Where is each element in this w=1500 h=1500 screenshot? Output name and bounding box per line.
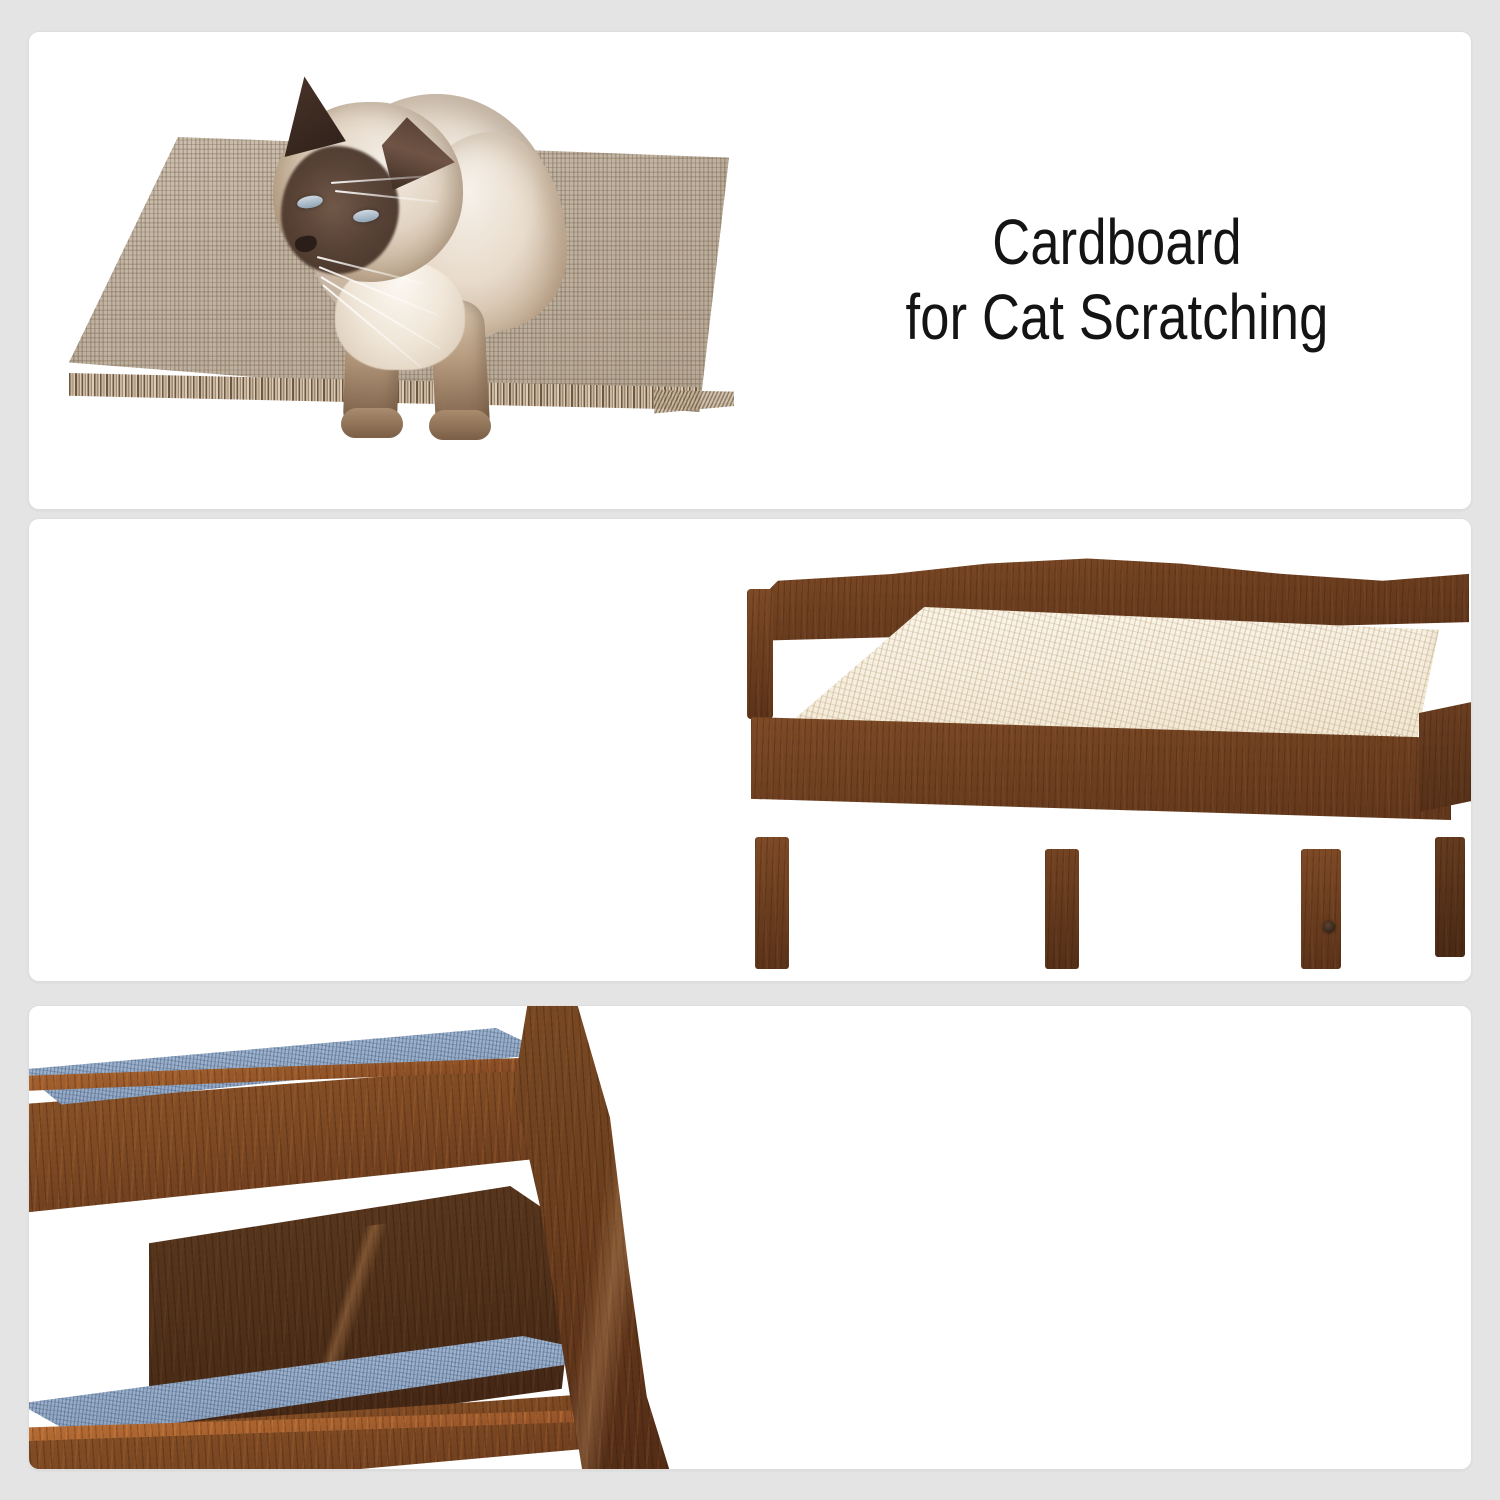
bench-leg-front-right [1301, 849, 1341, 969]
cat-paw-right [429, 410, 491, 440]
bench-leg-back-right [1435, 837, 1465, 957]
pet-bench [729, 549, 1472, 969]
cat-illustration [257, 50, 587, 440]
feature-panel-carpeted-treads: Carpeted Treads for Extra Grip [28, 1005, 1472, 1470]
cardboard-scratcher-illustration: Cardboard for Cat Scratching [29, 32, 1471, 509]
bench-leg-middle [1045, 849, 1079, 969]
bench-apron-front [751, 717, 1451, 849]
bench-leg-front-left [755, 837, 789, 969]
bench-apron-right [1419, 695, 1472, 845]
pet-stairs-illustration: Carpeted Treads for Extra Grip [29, 1006, 1471, 1469]
panel-caption-cardboard: Cardboard for Cat Scratching [846, 205, 1387, 355]
pet-stairs [29, 1006, 729, 1470]
wooden-bench-illustration: Removable Cushion [29, 519, 1471, 981]
bench-back-post-left [747, 589, 773, 719]
feature-collage: Cardboard for Cat Scratching Removable C… [0, 0, 1500, 1500]
bench-screw [1323, 921, 1335, 933]
feature-panel-removable-cushion: Removable Cushion [28, 518, 1472, 982]
cat-paw-left [341, 408, 403, 438]
feature-panel-cardboard-scratching: Cardboard for Cat Scratching [28, 31, 1472, 510]
